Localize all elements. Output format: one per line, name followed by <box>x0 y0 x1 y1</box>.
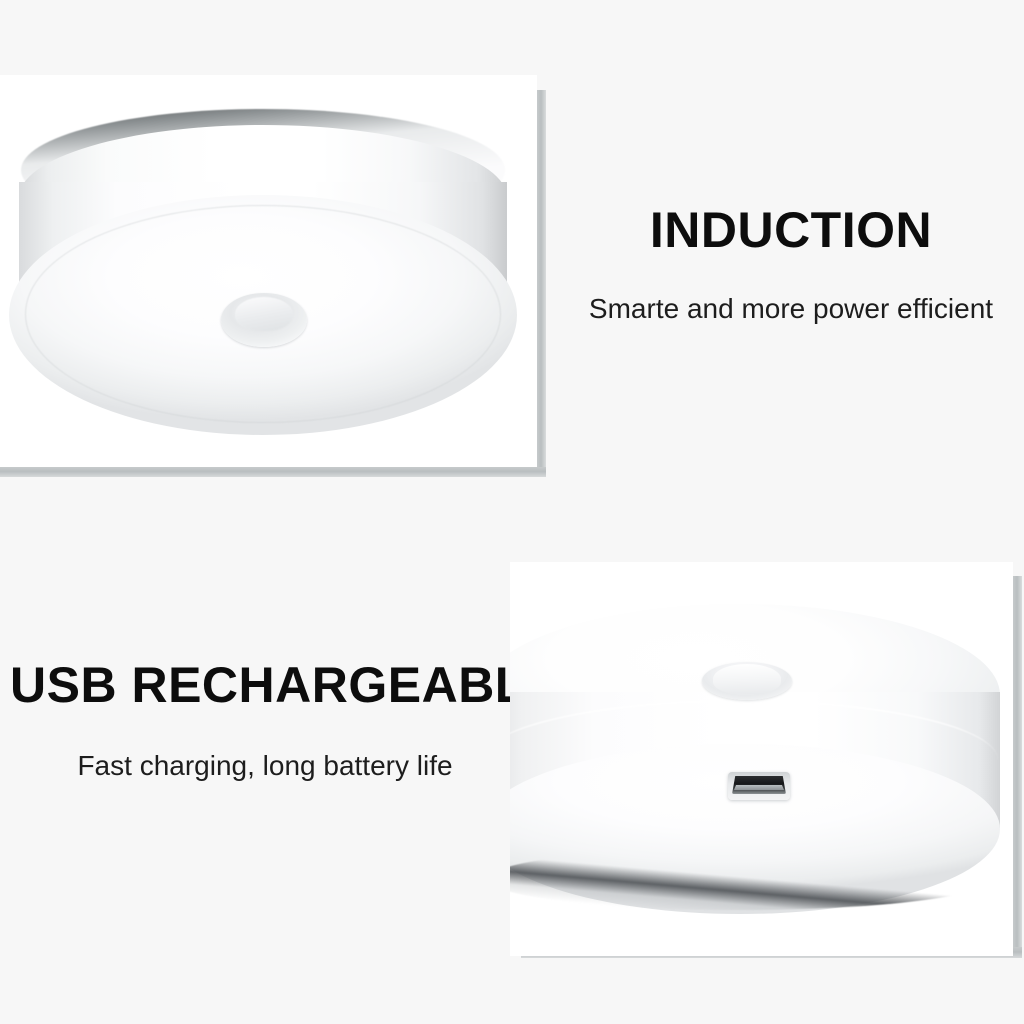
induction-heading: INDUCTION <box>560 205 1022 255</box>
product-image-puck-light-angled <box>3 107 523 437</box>
product-image-puck-light-side <box>510 604 1010 914</box>
product-feature-infographic: { "page": { "background_color": "#f7f7f7… <box>0 0 1024 1024</box>
induction-panel-shadow-right <box>537 90 546 477</box>
usb-rechargeable-text-block: USB RECHARGEABLE Fast charging, long bat… <box>10 660 520 780</box>
usb-rechargeable-photo-panel <box>510 562 1013 956</box>
micro-usb-port-lip <box>734 785 784 790</box>
induction-panel-shadow-bottom <box>0 467 546 477</box>
usb-rechargeable-heading: USB RECHARGEABLE <box>10 660 520 710</box>
usb-rechargeable-subheading: Fast charging, long battery life <box>10 752 520 780</box>
puck-base-shadow-line <box>510 848 992 910</box>
induction-photo-panel <box>0 75 537 467</box>
motion-sensor-dome <box>713 664 781 694</box>
motion-sensor-dome <box>235 297 293 331</box>
usb-panel-shadow-right <box>1013 576 1022 956</box>
induction-text-block: INDUCTION Smarte and more power efficien… <box>560 205 1022 323</box>
induction-subheading: Smarte and more power efficient <box>560 295 1022 323</box>
